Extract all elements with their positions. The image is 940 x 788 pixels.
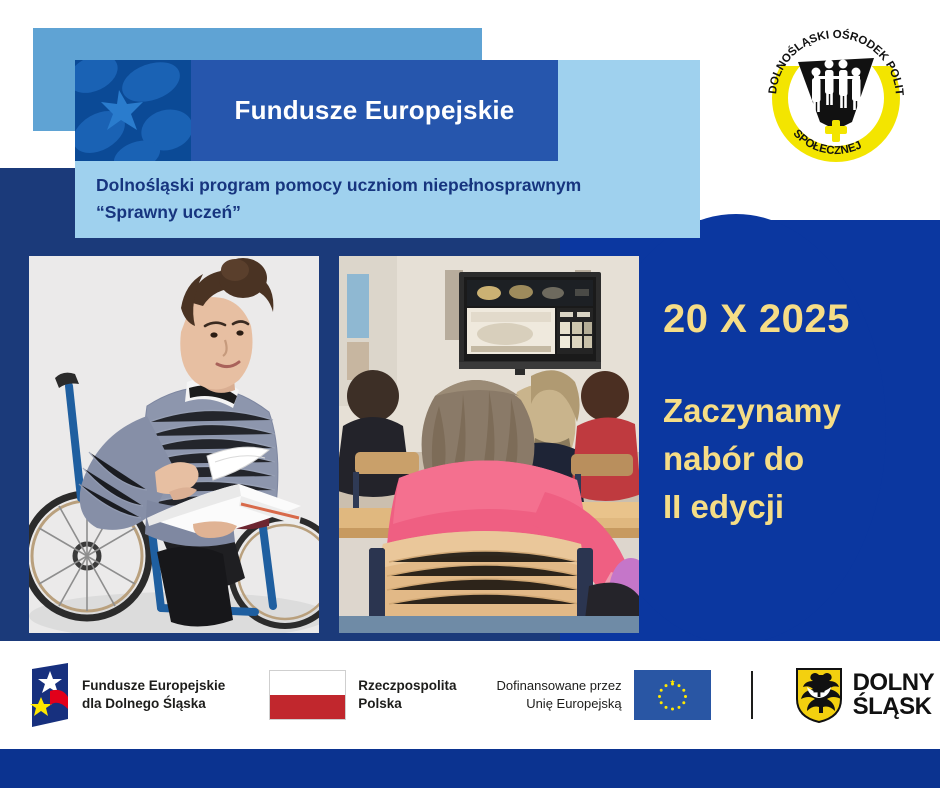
bottom-blue-bar — [0, 749, 940, 788]
fundusze-europejskie-logo: Fundusze Europejskiedla Dolnego Śląska — [28, 663, 225, 727]
european-union-logo: Dofinansowane przezUnię Europejską — [497, 670, 711, 720]
fe-logo-line-1: Fundusze Europejskie — [82, 678, 225, 693]
fundusze-europejskie-banner: Fundusze Europejskie — [75, 60, 558, 161]
footer-divider — [751, 671, 753, 719]
rzeczpospolita-polska-logo: RzeczpospolitaPolska — [269, 670, 456, 720]
poland-logo-line-2: Polska — [358, 696, 402, 711]
dops-logo: DOLNOŚLĄSKI OŚRODEK POLITYKI SPOŁECZNEJ — [756, 18, 916, 168]
event-date: 20 X 2025 — [663, 295, 925, 343]
fe-logo-line-2: dla Dolnego Śląska — [82, 696, 206, 711]
dolny-slask-wordmark: DOLNY ŚLĄSK — [853, 671, 935, 719]
program-subtitle: Dolnośląski program pomocy uczniom niepe… — [96, 172, 696, 226]
eu-logo-line-2: Unię Europejską — [526, 696, 621, 711]
eu-logo-text: Dofinansowane przezUnię Europejską — [497, 677, 622, 713]
poland-logo-text: RzeczpospolitaPolska — [358, 677, 456, 713]
photo-student-wheelchair-reading — [29, 256, 319, 633]
fundusze-europejskie-title: Fundusze Europejskie — [191, 60, 558, 161]
program-subtitle-line-1: Dolnośląski program pomocy uczniom niepe… — [96, 172, 696, 199]
program-subtitle-line-2: “Sprawny uczeń” — [96, 199, 696, 226]
hero-subtext: Zaczynamy nabór do II edycji — [663, 387, 925, 531]
dolny-slask-logo: DOLNY ŚLĄSK — [795, 667, 935, 723]
hero-text-block: 20 X 2025 Zaczynamy nabór do II edycji — [663, 295, 925, 531]
dolny-slask-line-1: DOLNY — [853, 671, 935, 695]
polish-flag-icon — [269, 670, 346, 720]
eu-logo-line-1: Dofinansowane przez — [497, 678, 622, 693]
dolny-slask-line-2: ŚLĄSK — [853, 695, 935, 719]
footer-logo-strip: Fundusze Europejskiedla Dolnego Śląska R… — [0, 641, 940, 749]
poland-logo-line-1: Rzeczpospolita — [358, 678, 456, 693]
hero-subtext-line-2: nabór do — [663, 435, 925, 483]
fe-flag-icon — [28, 663, 72, 727]
eu-flag-icon — [634, 670, 711, 720]
hero-subtext-line-3: II edycji — [663, 483, 925, 531]
fe-logo-text: Fundusze Europejskiedla Dolnego Śląska — [82, 677, 225, 713]
decorative-pattern-swatch — [75, 60, 191, 161]
dolny-slask-crest-icon — [795, 667, 843, 723]
hero-subtext-line-1: Zaczynamy — [663, 387, 925, 435]
poster-root: Fundusze Europejskie Dolnośląski program… — [0, 0, 940, 788]
photo-classroom-interactive-board — [339, 256, 639, 633]
